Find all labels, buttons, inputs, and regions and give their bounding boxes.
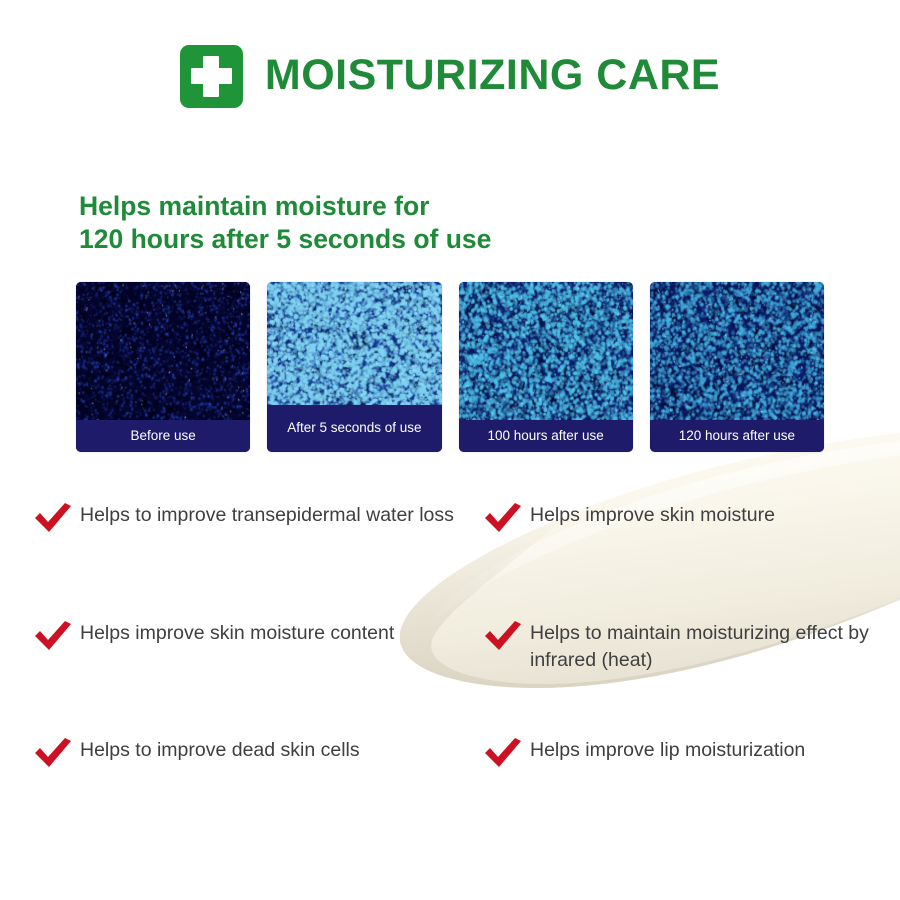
benefit-text: Helps to maintain moisturizing effect by… — [530, 618, 884, 674]
page-title: MOISTURIZING CARE — [265, 54, 720, 97]
comparison-panel-strip: Before use After 5 seconds of use 100 ho… — [76, 282, 824, 452]
check-icon — [484, 502, 522, 534]
skin-hydration-image — [267, 282, 441, 405]
cream-product-swoosh — [398, 420, 900, 720]
claim-line-2: 120 hours after 5 seconds of use — [79, 223, 679, 256]
benefit-item: Helps to maintain moisturizing effect by… — [484, 618, 884, 674]
comparison-panel: 120 hours after use — [650, 282, 824, 452]
benefit-text: Helps to improve dead skin cells — [80, 735, 360, 764]
check-icon — [34, 620, 72, 652]
panel-caption: 120 hours after use — [650, 420, 824, 452]
check-icon — [34, 737, 72, 769]
comparison-panel: Before use — [76, 282, 250, 452]
benefit-text: Helps to improve transepidermal water lo… — [80, 500, 454, 529]
skin-hydration-image — [650, 282, 824, 420]
panel-caption: 100 hours after use — [459, 420, 633, 452]
comparison-panel: 100 hours after use — [459, 282, 633, 452]
skin-hydration-image — [76, 282, 250, 420]
check-icon — [484, 737, 522, 769]
benefit-text: Helps improve skin moisture — [530, 500, 775, 529]
benefit-text: Helps improve lip moisturization — [530, 735, 805, 764]
benefit-text: Helps improve skin moisture content — [80, 618, 394, 647]
medical-cross-icon — [180, 45, 243, 108]
comparison-panel: After 5 seconds of use — [267, 282, 441, 452]
skin-hydration-image — [459, 282, 633, 420]
check-icon — [34, 502, 72, 534]
benefit-item: Helps to improve transepidermal water lo… — [34, 500, 474, 534]
benefit-item: Helps to improve dead skin cells — [34, 735, 474, 769]
claim-headline: Helps maintain moisture for 120 hours af… — [79, 190, 679, 257]
benefit-item: Helps improve skin moisture content — [34, 618, 474, 652]
claim-line-1: Helps maintain moisture for — [79, 190, 679, 223]
benefit-item: Helps improve skin moisture — [484, 500, 884, 534]
panel-caption: Before use — [76, 420, 250, 452]
panel-caption: After 5 seconds of use — [267, 405, 441, 452]
page-header: MOISTURIZING CARE — [0, 0, 900, 150]
check-icon — [484, 620, 522, 652]
benefit-item: Helps improve lip moisturization — [484, 735, 884, 769]
